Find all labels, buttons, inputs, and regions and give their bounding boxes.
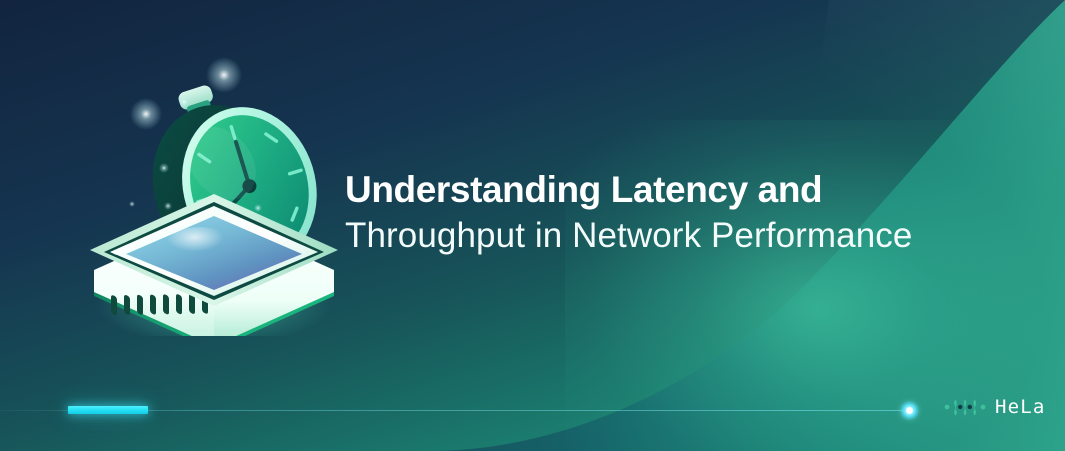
- headline-line-2: Throughput in Network Performance: [345, 216, 1005, 255]
- brand-name: HeLa: [995, 398, 1046, 417]
- headline: Understanding Latency and Throughput in …: [345, 170, 1005, 255]
- stopwatch-chip-illustration: [72, 56, 352, 336]
- hela-logo-mark: [944, 396, 986, 418]
- hero-banner: Understanding Latency and Throughput in …: [0, 0, 1065, 451]
- progress-endpoint-dot[interactable]: [906, 407, 913, 414]
- progress-rail-fill[interactable]: [68, 406, 148, 414]
- headline-line-1: Understanding Latency and: [345, 170, 1005, 210]
- brand-lockup[interactable]: HeLa: [944, 396, 1046, 418]
- chip-die-glow: [166, 227, 234, 261]
